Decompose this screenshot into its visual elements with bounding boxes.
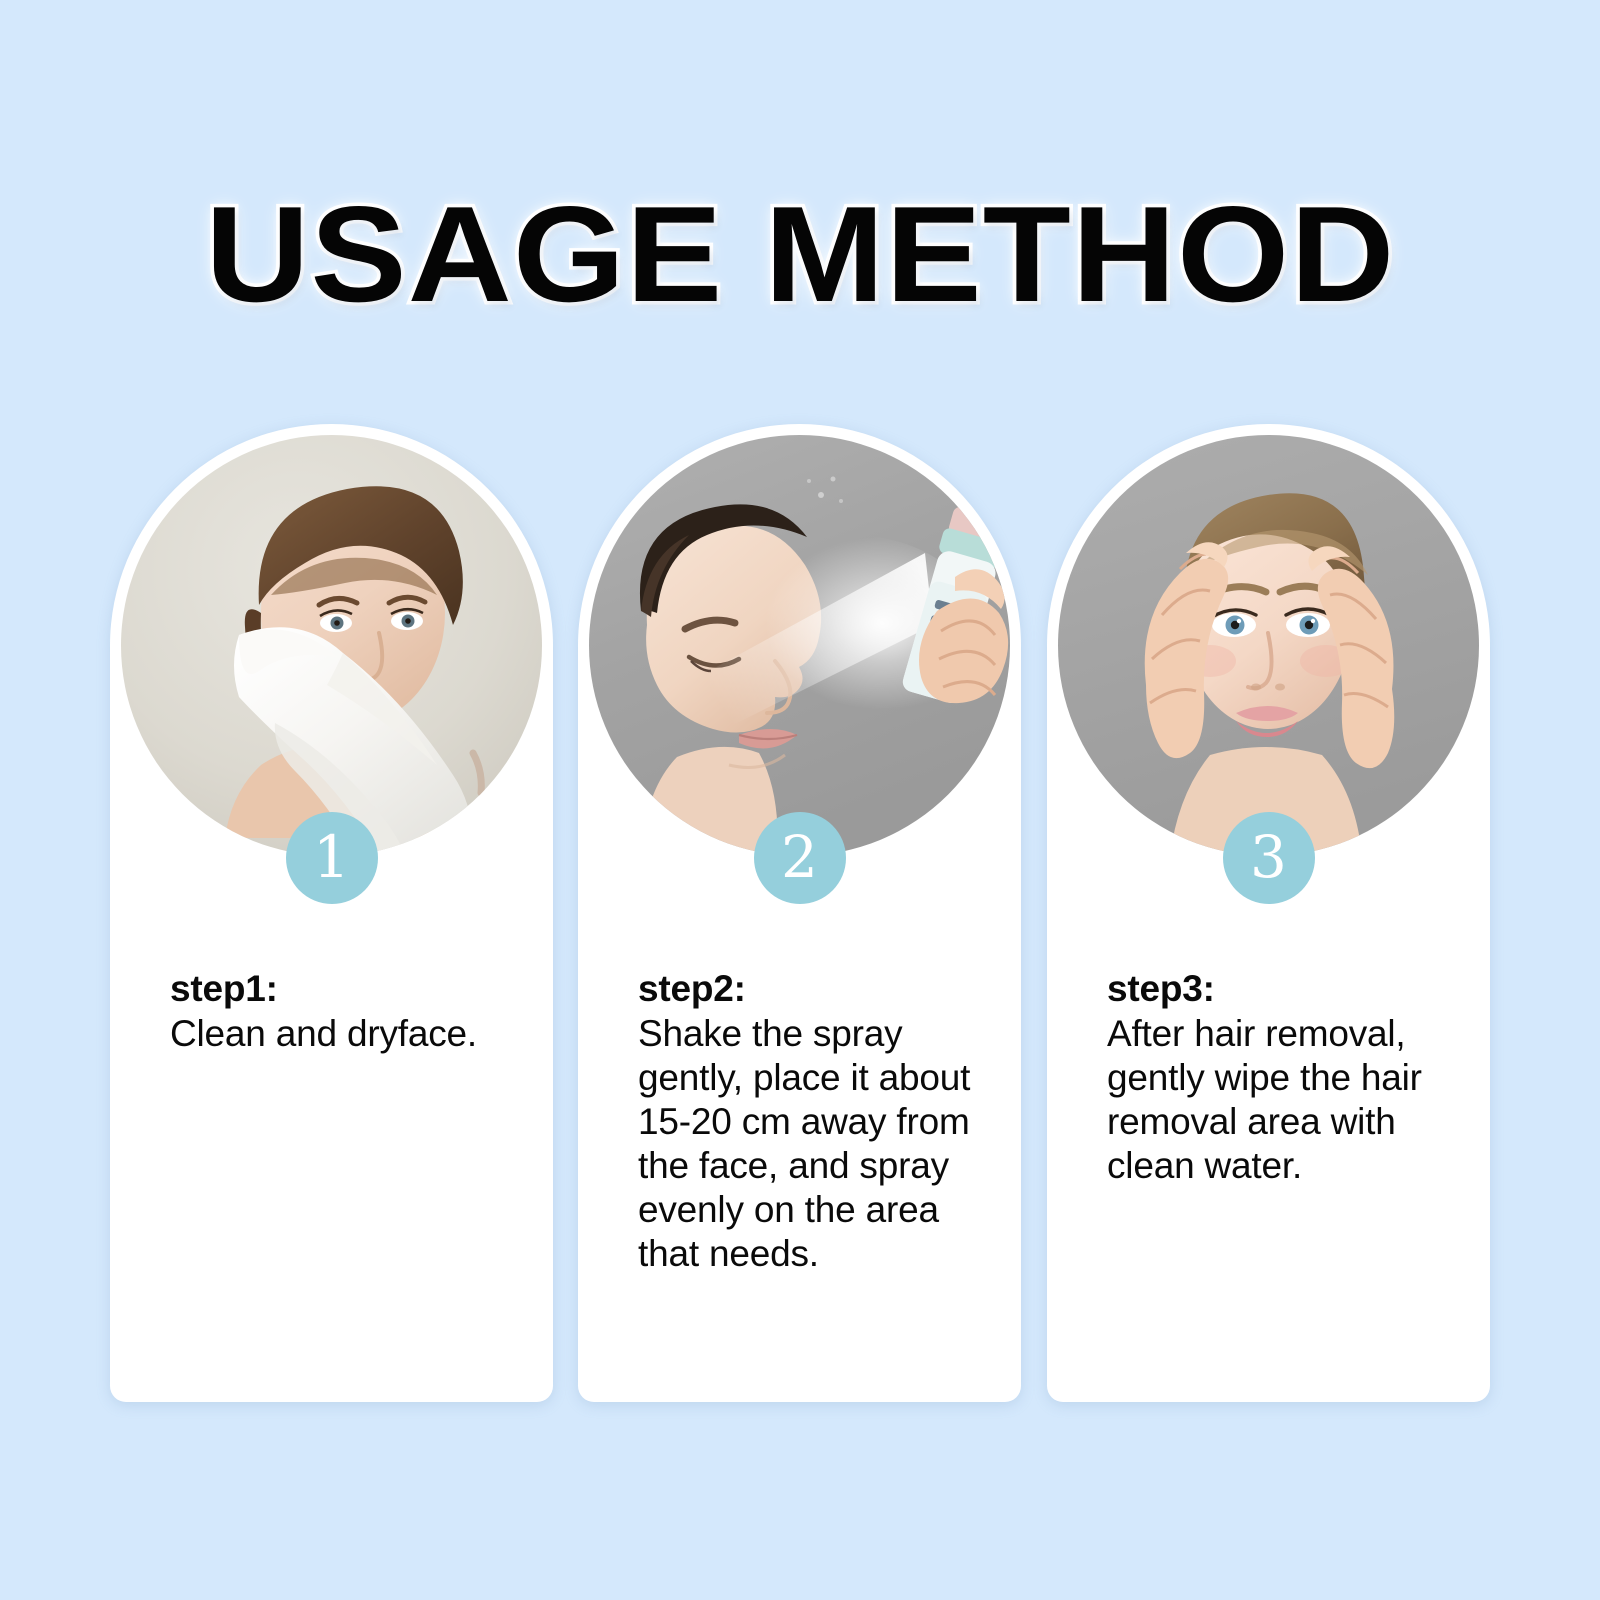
step-1-number: 1 [313,828,350,886]
page-title: USAGE METHOD [205,186,1395,322]
step-3-body: After hair removal, gently wipe the hair… [1107,1012,1472,1188]
step-2-number: 2 [781,828,818,886]
step-3-text: step3: After hair removal, gently wipe t… [1107,966,1472,1188]
step-1-label: step1: [170,966,535,1012]
page-title-container: USAGE METHOD [0,186,1600,322]
step-1-text: step1: Clean and dryface. [170,966,535,1056]
step-3-photo [1058,435,1479,856]
step-card-1[interactable]: 1 step1: Clean and dryface. [110,424,553,1402]
steps-row: 1 step1: Clean and dryface. [0,424,1600,1404]
step-1-photo [121,435,542,856]
step-2-body: Shake the spray gently, place it about 1… [638,1012,1003,1276]
step-3-number: 3 [1250,828,1287,886]
step-3-number-badge: 3 [1223,812,1315,904]
step-2-text: step2: Shake the spray gently, place it … [638,966,1003,1276]
step-1-number-badge: 1 [286,812,378,904]
step-3-label: step3: [1107,966,1472,1012]
step-card-2[interactable]: 2 step2: Shake the spray gently, place i… [578,424,1021,1402]
step-card-3[interactable]: 3 step3: After hair removal, gently wipe… [1047,424,1490,1402]
step-2-label: step2: [638,966,1003,1012]
step-2-number-badge: 2 [754,812,846,904]
step-1-body: Clean and dryface. [170,1012,535,1056]
step-2-photo [589,435,1010,856]
